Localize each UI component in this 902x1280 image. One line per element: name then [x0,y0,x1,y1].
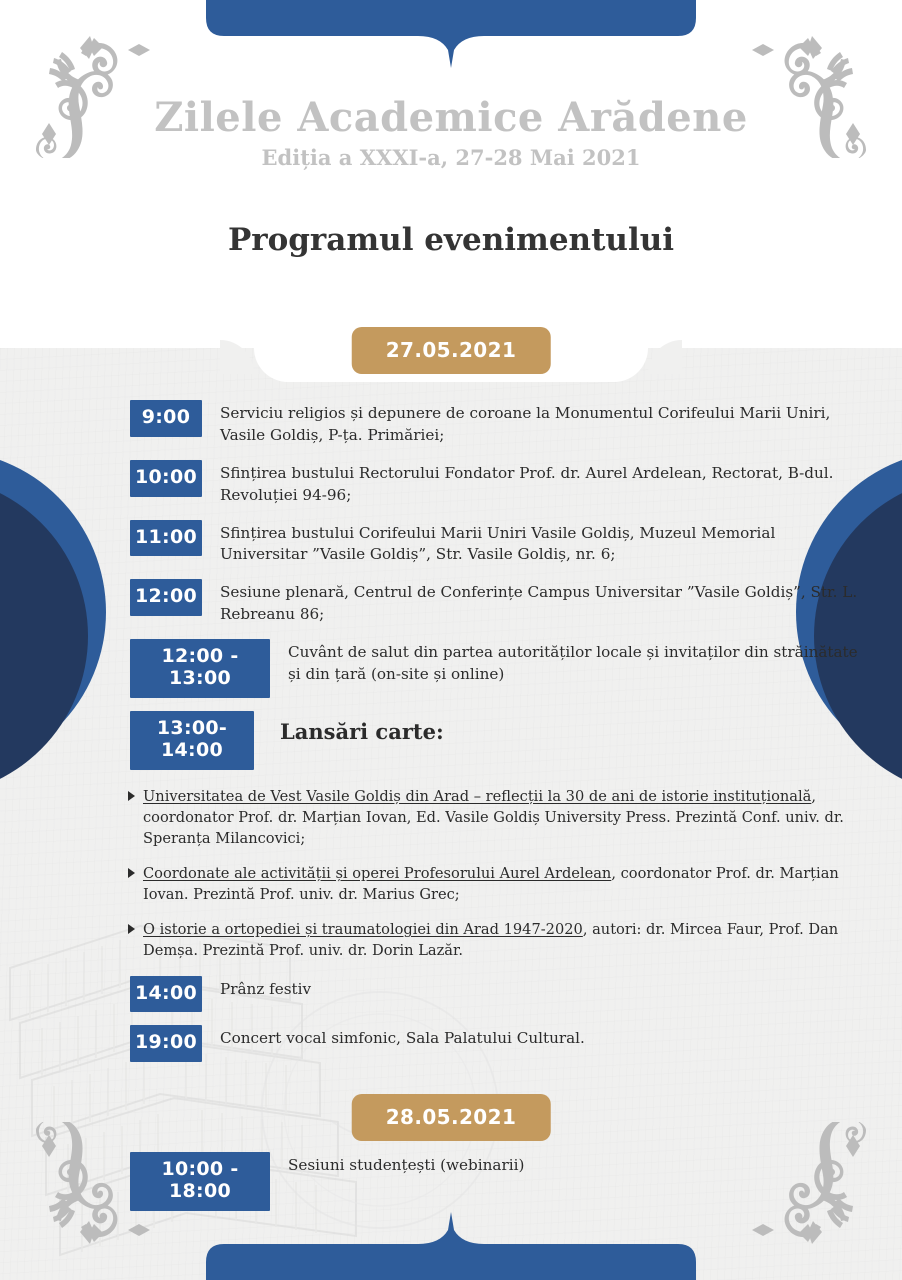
schedule: 9:00Serviciu religios și depunere de cor… [0,400,902,1075]
page-title: Programul evenimentului [0,222,902,258]
triangle-bullet-icon [128,791,135,801]
schedule-row: 13:00-14:00Lansări carte: [0,711,902,770]
schedule-row: 9:00Serviciu religios și depunere de cor… [0,400,902,447]
schedule-row: 12:00 - 13:00Cuvânt de salut din partea … [0,639,902,698]
schedule-row: 10:00Sfințirea bustului Rectorului Fonda… [0,460,902,507]
time-chip: 14:00 [130,976,202,1013]
triangle-bullet-icon [128,924,135,934]
schedule-row: 19:00Concert vocal simfonic, Sala Palatu… [0,1025,902,1062]
list-item: Coordonate ale activității și operei Pro… [128,863,856,905]
schedule-description: Sfințirea bustului Rectorului Fondator P… [220,460,862,507]
main-title: Zilele Academice Arădene [0,96,902,141]
book-launch-list: Universitatea de Vest Vasile Goldiș din … [0,786,902,962]
list-item: O istorie a ortopediei și traumatologiei… [128,919,856,961]
poster-header: Zilele Academice Arădene Ediția a XXXI-a… [0,96,902,170]
book-title: Universitatea de Vest Vasile Goldiș din … [143,788,811,805]
schedule-description: Lansări carte: [280,711,444,747]
book-entry-text: O istorie a ortopediei și traumatologiei… [143,919,856,961]
schedule-description: Sfințirea bustului Corifeului Marii Unir… [220,520,862,567]
schedule-description: Cuvânt de salut din partea autorităților… [288,639,862,686]
book-entry-text: Coordonate ale activității și operei Pro… [143,863,856,905]
schedule-description: Sesiuni studențești (webinarii) [288,1152,524,1177]
book-title: O istorie a ortopediei și traumatologiei… [143,921,583,938]
time-chip: 19:00 [130,1025,202,1062]
day-two-entries: 10:00 - 18:00Sesiuni studențești (webina… [0,1152,902,1224]
time-chip: 9:00 [130,400,202,437]
schedule-description: Prânz festiv [220,976,311,1001]
time-chip: 10:00 [130,460,202,497]
date-badge-day-one: 27.05.2021 [352,327,551,374]
date-badge-day-two: 28.05.2021 [352,1094,551,1141]
schedule-row: 14:00Prânz festiv [0,976,902,1013]
schedule-description: Serviciu religios și depunere de coroane… [220,400,862,447]
book-entry-text: Universitatea de Vest Vasile Goldiș din … [143,786,856,849]
triangle-bullet-icon [128,868,135,878]
top-banner [206,0,696,68]
book-title: Coordonate ale activității și operei Pro… [143,865,611,882]
day-one-entries-after: 14:00Prânz festiv19:00Concert vocal simf… [0,976,902,1063]
day-one-entries: 9:00Serviciu religios și depunere de cor… [0,400,902,770]
time-chip: 13:00-14:00 [130,711,254,770]
schedule-row: 11:00Sfințirea bustului Corifeului Marii… [0,520,902,567]
time-chip: 10:00 - 18:00 [130,1152,270,1211]
schedule-description: Concert vocal simfonic, Sala Palatului C… [220,1025,585,1050]
time-chip: 11:00 [130,520,202,557]
schedule-description: Sesiune plenară, Centrul de Conferințe C… [220,579,862,626]
poster: Zilele Academice Arădene Ediția a XXXI-a… [0,0,902,1280]
time-chip: 12:00 [130,579,202,616]
list-item: Universitatea de Vest Vasile Goldiș din … [128,786,856,849]
schedule-row: 10:00 - 18:00Sesiuni studențești (webina… [0,1152,902,1211]
sub-title: Ediția a XXXI-a, 27-28 Mai 2021 [0,145,902,170]
time-chip: 12:00 - 13:00 [130,639,270,698]
schedule-row: 12:00Sesiune plenară, Centrul de Conferi… [0,579,902,626]
